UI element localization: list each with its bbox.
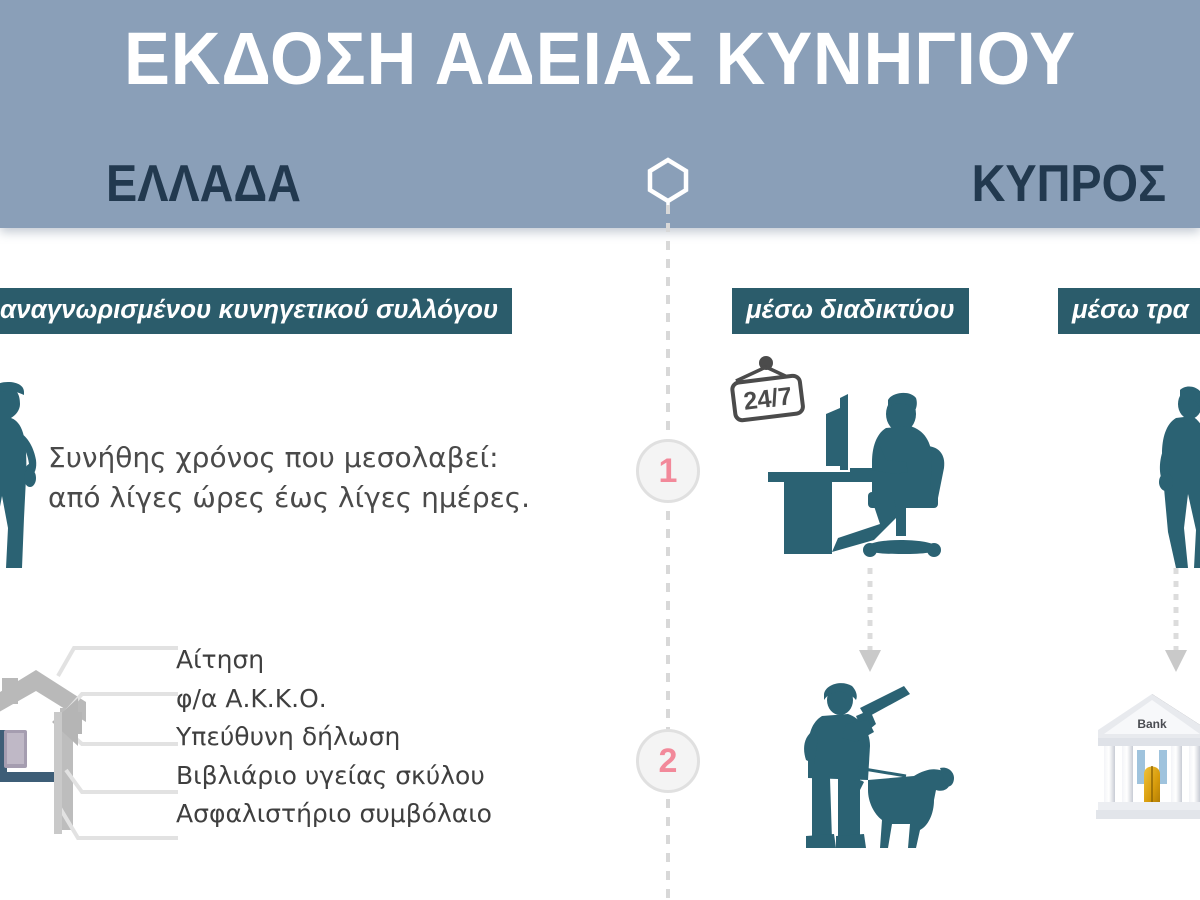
- hexagon-outline-icon: [645, 157, 691, 209]
- timeline-dashed-line: [666, 205, 670, 900]
- list-item: Υπεύθυνη δήλωση: [176, 718, 492, 757]
- walking-person-icon: [1158, 384, 1200, 568]
- bracket-arrow-icon: [52, 640, 178, 845]
- list-item: Βιβλιάριο υγείας σκύλου: [176, 757, 492, 796]
- greece-duration-line2: από λίγες ώρες έως λίγες ημέρες.: [48, 478, 530, 518]
- caption-cyprus-online: μέσω διαδικτύου: [732, 288, 969, 334]
- bank-label: Bank: [1137, 717, 1167, 731]
- timeline-step-marker-1: 1: [636, 439, 700, 503]
- header-banner: ΕΚΔΟΣΗ ΑΔΕΙΑΣ ΚΥΝΗΓΙΟΥ ΕΛΛΑΔΑ ΚΥΠΡΟΣ: [0, 0, 1200, 228]
- bank-building-icon: Bank: [1096, 690, 1200, 828]
- greece-document-list: Αίτηση φ/α Α.Κ.Κ.Ο. Υπεύθυνη δήλωση Βιβλ…: [176, 641, 492, 834]
- list-item: Ασφαλιστήριο συμβόλαιο: [176, 795, 492, 834]
- list-item: φ/α Α.Κ.Κ.Ο.: [176, 680, 492, 719]
- timeline-step-marker-2: 2: [636, 729, 700, 793]
- greece-duration-text: Συνήθης χρόνος που μεσολαβεί: από λίγες …: [48, 438, 530, 518]
- hunter-with-dog-icon: [798, 672, 958, 850]
- infographic-page: ΕΚΔΟΣΗ ΑΔΕΙΑΣ ΚΥΝΗΓΙΟΥ ΕΛΛΑΔΑ ΚΥΠΡΟΣ 1 2…: [0, 0, 1200, 900]
- caption-cyprus-bank: μέσω τρα: [1058, 288, 1200, 334]
- arrow-down-icon: [1162, 568, 1190, 674]
- page-title: ΕΚΔΟΣΗ ΑΔΕΙΑΣ ΚΥΝΗΓΙΟΥ: [42, 22, 1158, 96]
- caption-greece-step1: αναγνωρισμένου κυνηγετικού συλλόγου: [0, 288, 512, 334]
- country-label-greece: ΕΛΛΑΔΑ: [106, 158, 301, 210]
- arrow-down-icon: [856, 568, 884, 674]
- list-item: Αίτηση: [176, 641, 492, 680]
- person-at-computer-icon: [768, 388, 978, 560]
- greece-duration-line1: Συνήθης χρόνος που μεσολαβεί:: [48, 438, 530, 478]
- country-label-cyprus: ΚΥΠΡΟΣ: [971, 158, 1166, 210]
